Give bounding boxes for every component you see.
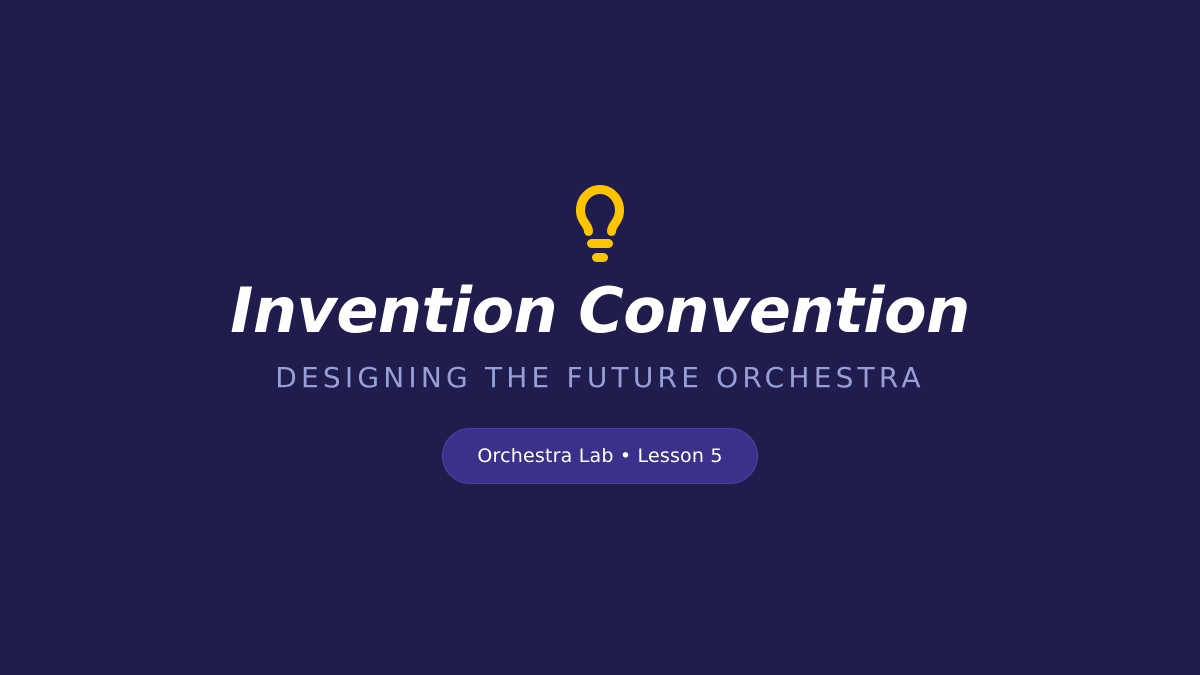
lesson-badge: Orchestra Lab • Lesson 5 [442,428,757,484]
lightbulb-icon [571,178,629,262]
title-slide: Invention Convention DESIGNING THE FUTUR… [0,0,1200,675]
slide-hero-content: Invention Convention DESIGNING THE FUTUR… [0,178,1200,484]
slide-title: Invention Convention [230,280,969,342]
slide-subtitle: DESIGNING THE FUTURE ORCHESTRA [275,364,924,392]
